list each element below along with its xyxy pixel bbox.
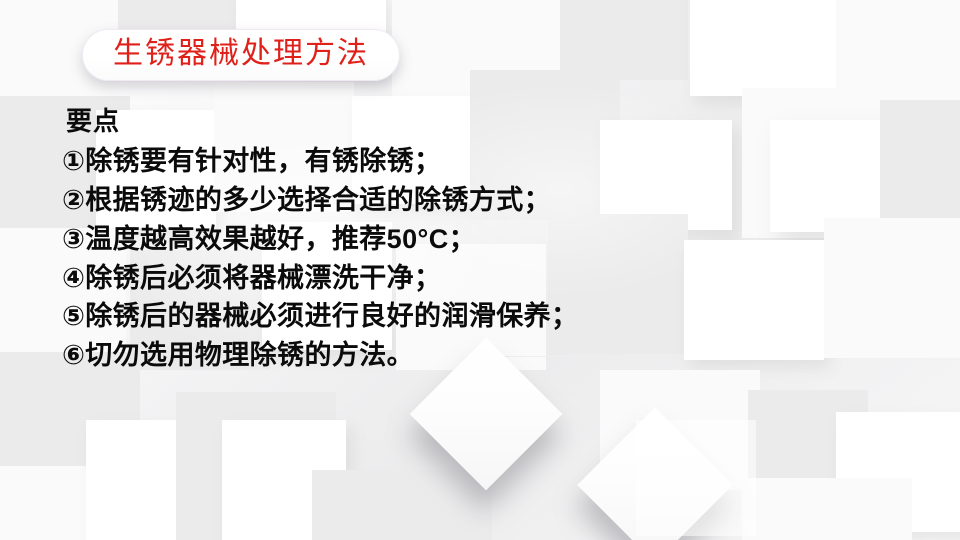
page-title: 生锈器械处理方法: [113, 39, 369, 69]
bg-square: [600, 370, 760, 490]
list-item: ③温度越高效果越好，推荐50°C；: [62, 220, 892, 259]
bg-square: [312, 470, 492, 540]
list-item: ⑥切勿选用物理除锈的方法。: [62, 336, 892, 375]
list-item: ④除锈后必须将器械漂洗干净；: [62, 259, 892, 298]
content-body: 要点 ①除锈要有针对性，有锈除锈； ②根据锈迹的多少选择合适的除锈方式； ③温度…: [62, 104, 892, 375]
bg-diamond: [577, 407, 733, 540]
bg-square: [748, 390, 868, 506]
bg-square: [690, 0, 840, 96]
bg-square: [392, 0, 562, 102]
list-item: ⑤除锈后的器械必须进行良好的润滑保养；: [62, 297, 892, 336]
bg-square: [86, 420, 214, 540]
bg-square: [222, 420, 346, 540]
bg-square: [742, 478, 912, 540]
bg-square: [636, 420, 756, 536]
bg-square: [836, 412, 960, 532]
slide-title-badge: 生锈器械处理方法: [82, 29, 400, 81]
bg-square: [560, 0, 688, 80]
list-item: ①除锈要有针对性，有锈除锈；: [62, 142, 892, 181]
content-heading: 要点: [66, 104, 892, 140]
slide-canvas: 生锈器械处理方法 要点 ①除锈要有针对性，有锈除锈； ②根据锈迹的多少选择合适的…: [0, 0, 960, 540]
list-item: ②根据锈迹的多少选择合适的除锈方式；: [62, 181, 892, 220]
key-points-list: ①除锈要有针对性，有锈除锈； ②根据锈迹的多少选择合适的除锈方式； ③温度越高效…: [62, 142, 892, 375]
bg-square: [0, 466, 120, 540]
bg-square: [176, 392, 336, 540]
bg-square: [880, 100, 960, 230]
